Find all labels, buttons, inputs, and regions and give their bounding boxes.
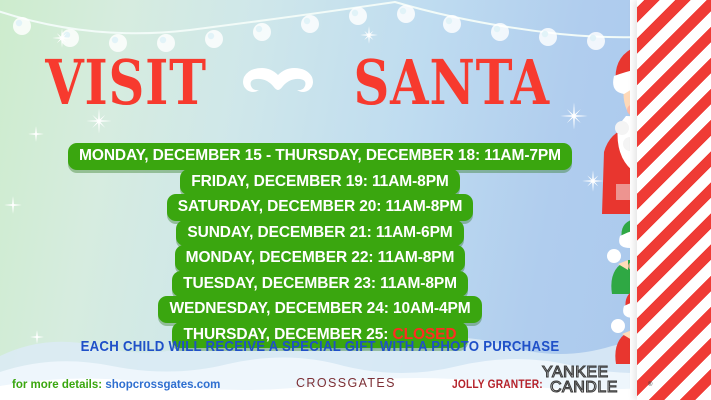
sponsor-label: JOLLY GRANTER: bbox=[452, 377, 543, 391]
sparkle-icon bbox=[28, 126, 44, 142]
schedule-line: TUESDAY, DECEMBER 23: 11AM-8PM bbox=[172, 271, 468, 298]
schedule-line-text: SUNDAY, DECEMBER 21: 11AM-6PM bbox=[187, 224, 452, 241]
schedule-line-text: MONDAY, DECEMBER 22: 11AM-8PM bbox=[186, 249, 455, 266]
registered-trademark-icon: ® bbox=[648, 381, 653, 388]
title-word-santa: SANTA bbox=[354, 52, 550, 114]
details-line: for more details: shopcrossgates.com bbox=[12, 379, 220, 391]
schedule-line-text: MONDAY, DECEMBER 15 - THURSDAY, DECEMBER… bbox=[79, 147, 561, 164]
santa-visit-poster: VISIT SANTA MONDAY, DECEMBER 15 - THURSD… bbox=[0, 0, 711, 400]
schedule-line: FRIDAY, DECEMBER 19: 11AM-8PM bbox=[180, 169, 460, 196]
schedule-line-text: WEDNESDAY, DECEMBER 24: 10AM-4PM bbox=[169, 300, 470, 317]
schedule-line: MONDAY, DECEMBER 22: 11AM-8PM bbox=[175, 245, 466, 272]
title-word-visit: VISIT bbox=[45, 52, 207, 114]
schedule-line-text: SATURDAY, DECEMBER 20: 11AM-8PM bbox=[178, 198, 463, 215]
schedule-line-text: FRIDAY, DECEMBER 19: 11AM-8PM bbox=[191, 173, 449, 190]
page-title: VISIT SANTA bbox=[0, 48, 600, 118]
details-url[interactable]: shopcrossgates.com bbox=[105, 379, 220, 391]
candy-cane-stripes-icon bbox=[637, 0, 711, 400]
schedule-line-text: TUESDAY, DECEMBER 23: 11AM-8PM bbox=[183, 275, 457, 292]
schedule-list: MONDAY, DECEMBER 15 - THURSDAY, DECEMBER… bbox=[0, 143, 640, 347]
schedule-line: SUNDAY, DECEMBER 21: 11AM-6PM bbox=[176, 220, 463, 247]
details-label: for more details: bbox=[12, 379, 102, 391]
gift-tagline: EACH CHILD WILL RECEIVE A SPECIAL GIFT W… bbox=[38, 338, 601, 355]
schedule-line: MONDAY, DECEMBER 15 - THURSDAY, DECEMBER… bbox=[68, 143, 572, 170]
schedule-line: SATURDAY, DECEMBER 20: 11AM-8PM bbox=[167, 194, 474, 221]
footer: for more details: shopcrossgates.com CRO… bbox=[0, 364, 711, 400]
yankee-candle-logo: YANKEE CANDLE ® bbox=[540, 362, 662, 396]
mustache-icon bbox=[241, 66, 315, 100]
schedule-line: WEDNESDAY, DECEMBER 24: 10AM-4PM bbox=[158, 296, 481, 323]
crossgates-logo: CROSSGATES bbox=[296, 376, 396, 390]
yankee-candle-logo-line2: CANDLE bbox=[550, 379, 618, 396]
